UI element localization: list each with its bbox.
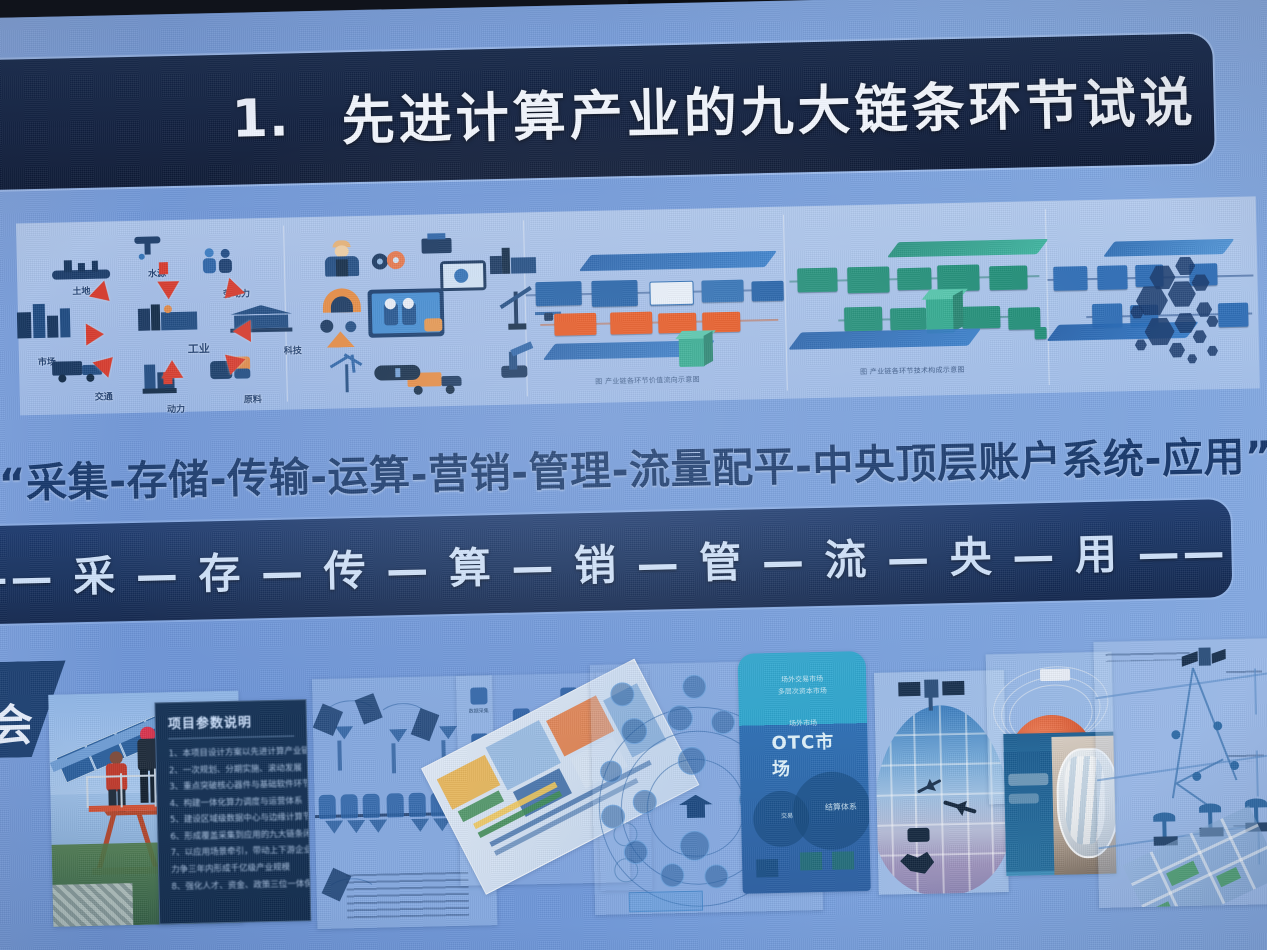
process-node [386, 793, 404, 817]
inward-arrow-icon [89, 281, 117, 309]
panel-flow-green: 图 产业链各环节技术构成示意图 [784, 201, 1050, 399]
inward-arrow-icon [157, 281, 179, 299]
spec-card-title: 项目参数说明 [168, 711, 295, 740]
flow-marker-icon [325, 820, 343, 833]
flow-caption-text [346, 872, 469, 919]
value-chain-quote: “采集-存储-传输-运算-营销-管理-流量配平-中央顶层账户系统-应用” [0, 422, 1267, 511]
layer-plane-bottom [788, 328, 981, 349]
flow-box-small [1034, 327, 1046, 339]
slide-title-number: 1. [231, 88, 290, 149]
engineer-icon [322, 240, 363, 277]
link-node [1192, 772, 1201, 781]
organization-badge-text: 会 [0, 689, 34, 754]
tree-node-icon [335, 726, 353, 739]
otc-card-subtitle: 场外交易市场 [781, 674, 823, 685]
flow-marker-icon [411, 819, 429, 832]
presentation-slide: 1. 先进计算产业的九大链条环节试说 土地 [0, 0, 1267, 950]
arrow-tail [159, 262, 168, 274]
slide-title-bar: 1. 先进计算产业的九大链条环节试说 [0, 33, 1215, 190]
vr-glasses-icon [374, 365, 420, 382]
wind-turbine-icon [329, 356, 366, 393]
monitor-icon [440, 260, 487, 291]
flow-marker-icon [347, 820, 365, 833]
process-node [319, 795, 337, 819]
process-node [341, 794, 359, 818]
flow-box [890, 308, 926, 331]
panel-flow-blue-orange: 图 产业链各环节价值流向示意图 [524, 207, 788, 405]
icon-label-transport: 交通 [95, 389, 113, 402]
diagram-strip: 土地 水源 劳动力 [16, 196, 1260, 415]
bottom-image-collage: 会 [0, 620, 1267, 950]
summary-band: —— 采 — 存 — 传 — 算 — 销 — 管 — 流 — 央 — 用 —— [0, 499, 1232, 625]
flow-box [962, 306, 1000, 329]
flow-marker-icon [369, 820, 387, 833]
green-cube-icon [926, 289, 965, 334]
icon-label-land: 土地 [72, 284, 90, 297]
inward-arrow-icon [86, 323, 104, 345]
icon-label-power: 动力 [167, 402, 185, 415]
flow-box [591, 280, 638, 307]
panel-caption: 图 产业链各环节价值流向示意图 [595, 375, 700, 387]
process-node [363, 794, 381, 818]
otc-card-subtitle-2: 多层次资本市场 [778, 686, 827, 697]
panel-caption: 图 产业链各环节技术构成示意图 [860, 365, 965, 377]
link-line [1176, 758, 1223, 783]
flow-box [751, 281, 783, 302]
workers-icon [203, 248, 238, 275]
layer-plane-top [887, 239, 1048, 258]
icon-label-industry: 工业 [188, 340, 210, 356]
tree-node-icon [389, 729, 407, 742]
arrow-tail [163, 372, 172, 384]
mining-icon [320, 319, 361, 350]
process-node [408, 793, 426, 817]
flow-box [649, 281, 694, 306]
flow-box [535, 281, 582, 306]
flow-box [1053, 266, 1088, 291]
city-market-icon [17, 303, 72, 338]
industry-center-icon [138, 304, 199, 333]
otc-market-card: 场外交易市场 多层次资本市场 场外市场 OTC市场 交易 结算体系 [738, 651, 871, 894]
network-node [682, 675, 707, 700]
green-cube-icon [678, 330, 713, 367]
orbit-satellite-icon [1040, 669, 1070, 682]
satellite-ground-network-diagram [1093, 638, 1267, 908]
otc-card-label: 场外市场 [789, 718, 817, 729]
molecular-cluster-icon [1121, 245, 1234, 367]
water-tap-icon [132, 236, 167, 261]
flow-box [847, 266, 890, 293]
slide-photograph: 1. 先进计算产业的九大链条环节试说 土地 [0, 0, 1267, 950]
flow-box [937, 264, 980, 291]
printer-icon [421, 233, 451, 256]
capability-icon [470, 687, 487, 704]
projection-screen: 1. 先进计算产业的九大链条环节试说 土地 [0, 0, 1267, 950]
panel-industrial-inputs: 土地 水源 劳动力 [16, 218, 288, 416]
satellite-icon [1182, 647, 1224, 668]
satellite-icon [898, 679, 968, 699]
land-icon [52, 259, 110, 280]
flow-box [844, 307, 883, 332]
flow-box [701, 280, 743, 303]
tree-node-icon [439, 726, 457, 739]
panel-network-cluster [1046, 196, 1260, 393]
flow-box [897, 268, 931, 291]
city-map-illustration [1122, 806, 1267, 908]
panel-iot-ecosystem [284, 212, 528, 409]
specification-text-card: 项目参数说明 1、本项目设计方案以先进计算产业链为核心进行布局规划 2、一次规划… [154, 699, 311, 924]
otc-inner-label: 交易 [781, 811, 793, 820]
tablet-control-icon [368, 288, 445, 338]
icon-label-raw: 原料 [244, 392, 262, 405]
tunnel-icon [322, 288, 361, 313]
home-center-icon [678, 786, 713, 821]
flow-box [554, 313, 596, 336]
inward-arrow-icon [233, 320, 251, 342]
slide-title-text: 先进计算产业的九大链条环节试说 [341, 61, 1197, 156]
link-node [1213, 721, 1222, 730]
vehicle-icon [907, 828, 929, 842]
link-node [1171, 730, 1180, 739]
flow-box [989, 265, 1028, 290]
link-node [1230, 761, 1239, 770]
summary-band-text: —— 采 — 存 — 传 — 算 — 销 — 管 — 流 — 央 — 用 —— [0, 518, 1228, 607]
otc-outer-label: 结算体系 [825, 801, 857, 813]
capability-label: 数据采集 [469, 707, 489, 714]
network-node [610, 682, 635, 707]
diagram-caption [1106, 652, 1190, 662]
inward-arrow-icon [217, 278, 245, 306]
layer-plane-top [579, 251, 777, 271]
spec-card-line: 8、强化人才、资金、政策三位一体保障 [171, 876, 297, 895]
flow-box [797, 268, 838, 293]
flow-box [610, 312, 652, 335]
gear-icon [372, 251, 406, 272]
